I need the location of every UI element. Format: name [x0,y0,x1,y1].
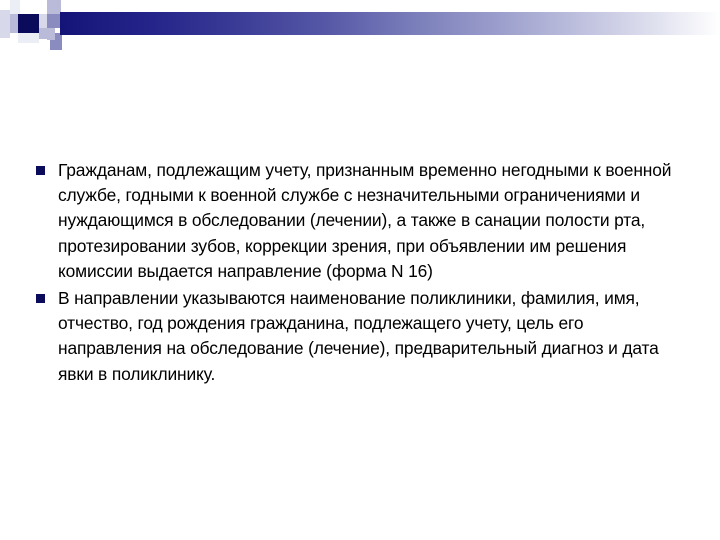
accent-square-pale-edge [0,10,10,38]
slide-body-content: Гражданам, подлежащим учету, признанным … [36,158,684,389]
accent-square-mid-upper [47,14,61,28]
accent-square-dark-navy [18,14,39,33]
accent-square-faint-top [10,0,20,14]
bullet-paragraph-text: В направлении указываются наименование п… [58,286,684,387]
accent-square-light-left [10,14,18,33]
accent-square-light-top [47,0,61,14]
header-gradient-bar [60,12,720,35]
slide-header-decoration [0,0,720,58]
list-item: Гражданам, подлежащим учету, признанным … [36,158,684,284]
bullet-paragraph-text: Гражданам, подлежащим учету, признанным … [58,158,684,284]
accent-square-faint-under [18,33,39,43]
square-bullet-icon [36,294,45,303]
list-item: В направлении указываются наименование п… [36,286,684,387]
accent-square-light-b [47,28,55,40]
square-bullet-icon [36,166,45,175]
